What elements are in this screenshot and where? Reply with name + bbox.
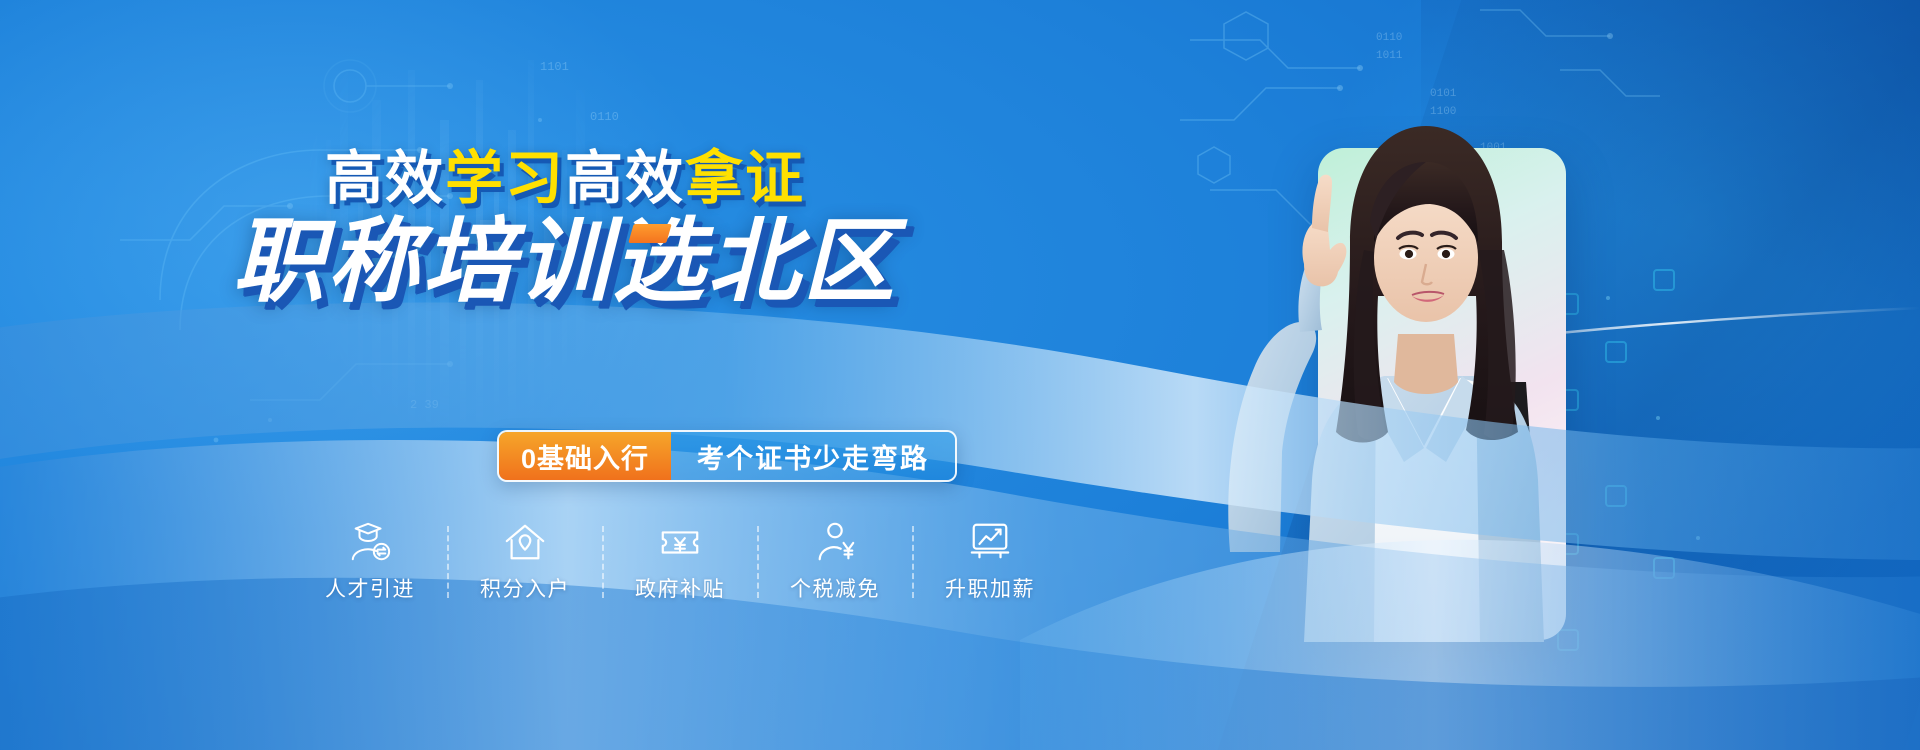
feature-label: 人才引进 <box>325 573 415 603</box>
badge-text: 考个证书少走弯路 <box>671 432 955 480</box>
kicker-seg-3: 高效 <box>565 146 685 211</box>
feature-item-residency[interactable]: 积分入户 <box>465 520 585 603</box>
tagline-badge[interactable]: 0基础入行 考个证书少走弯路 <box>497 430 957 482</box>
chart-board-icon <box>967 520 1013 564</box>
copy-block: 高效学习高效拿证 职称培训选北区 0基础入行 考个证书少走弯路 <box>0 0 1130 750</box>
svg-text:1011: 1011 <box>1376 50 1403 62</box>
svg-text:0110: 0110 <box>1376 32 1402 44</box>
ticket-yuan-icon <box>657 520 703 564</box>
feature-divider <box>912 526 914 598</box>
kicker-line: 高效学习高效拿证 <box>0 150 1130 208</box>
feature-divider <box>447 526 449 598</box>
badge-highlight: 0基础入行 <box>499 432 671 480</box>
kicker-seg-4: 拿证 <box>685 146 805 211</box>
feature-label: 个税减免 <box>790 573 880 603</box>
feature-label: 升职加薪 <box>945 573 1035 603</box>
promo-banner: 2 39 1101 0110 <box>0 0 1920 750</box>
pointing-woman-photo <box>1208 82 1638 642</box>
kicker-seg-1: 高效 <box>325 146 445 211</box>
feature-item-tax[interactable]: 个税减免 <box>775 520 895 603</box>
feature-list: 人才引进 积分入户 <box>310 520 1050 630</box>
feature-label: 积分入户 <box>480 573 570 603</box>
feature-divider <box>602 526 604 598</box>
person-yuan-icon <box>812 520 858 564</box>
main-title-wrap: 职称培训选北区 <box>0 213 1130 328</box>
feature-divider <box>757 526 759 598</box>
main-title-outer: 职称培训选北区 <box>232 213 897 312</box>
kicker-seg-2: 学习 <box>445 146 565 211</box>
feature-item-promotion[interactable]: 升职加薪 <box>930 520 1050 603</box>
feature-item-subsidy[interactable]: 政府补贴 <box>620 520 740 603</box>
page-title: 职称培训选北区 <box>232 211 897 313</box>
feature-label: 政府补贴 <box>635 573 725 603</box>
feature-item-talent[interactable]: 人才引进 <box>310 520 430 603</box>
orange-accent-mark <box>629 224 672 243</box>
house-pin-icon <box>502 520 548 564</box>
graduate-person-icon <box>347 520 393 564</box>
